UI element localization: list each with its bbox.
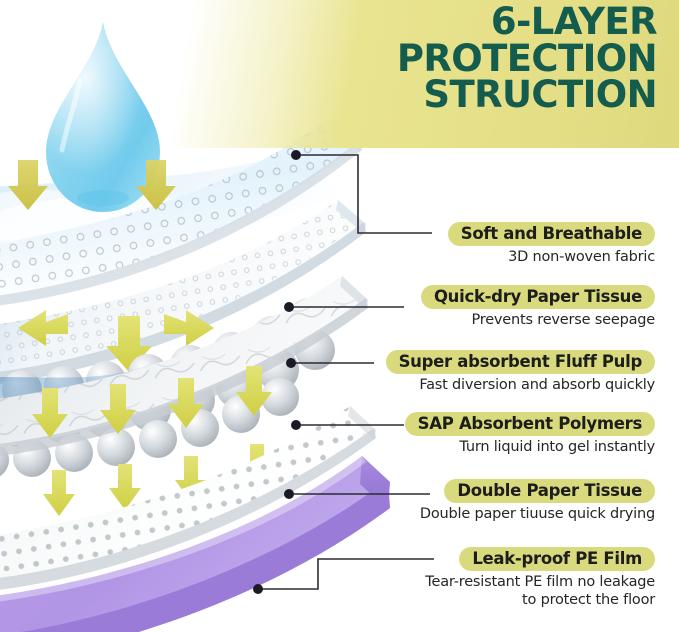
callout-subtitle: Tear-resistant PE film no leakage to pro… [425, 574, 655, 608]
infographic-root: 6-LAYER PROTECTION STRUCTION [0, 0, 679, 632]
callout-title: Super absorbent Fluff Pulp [386, 350, 655, 374]
callout-subtitle: Double paper tiuuse quick drying [420, 506, 655, 523]
callout-soft-and-breathable[interactable]: Soft and Breathable 3D non-woven fabric [448, 222, 655, 267]
callout-title: Quick-dry Paper Tissue [421, 285, 655, 309]
callout-title: Soft and Breathable [448, 222, 655, 246]
callout-subtitle: Prevents reverse seepage [421, 312, 655, 329]
callout-subtitle: Fast diversion and absorb quickly [386, 377, 655, 394]
callout-subtitle: 3D non-woven fabric [448, 249, 655, 266]
callout-super-absorbent-fluff-pulp[interactable]: Super absorbent Fluff Pulp Fast diversio… [386, 350, 655, 395]
callout-subtitle: Turn liquid into gel instantly [405, 439, 655, 456]
callout-double-paper-tissue[interactable]: Double Paper Tissue Double paper tiuuse … [420, 479, 655, 524]
callout-leak-proof-pe-film[interactable]: Leak-proof PE Film Tear-resistant PE fil… [425, 547, 655, 609]
callout-sap-absorbent-polymers[interactable]: SAP Absorbent Polymers Turn liquid into … [405, 412, 655, 457]
callout-title: Leak-proof PE Film [459, 547, 655, 571]
callout-quick-dry-paper-tissue[interactable]: Quick-dry Paper Tissue Prevents reverse … [421, 285, 655, 330]
callout-group: Soft and Breathable 3D non-woven fabric … [0, 0, 679, 632]
leader-dots [253, 150, 301, 594]
callout-title: SAP Absorbent Polymers [405, 412, 655, 436]
callout-title: Double Paper Tissue [444, 479, 655, 503]
leader-1 [296, 155, 432, 233]
leader-6 [258, 559, 434, 589]
